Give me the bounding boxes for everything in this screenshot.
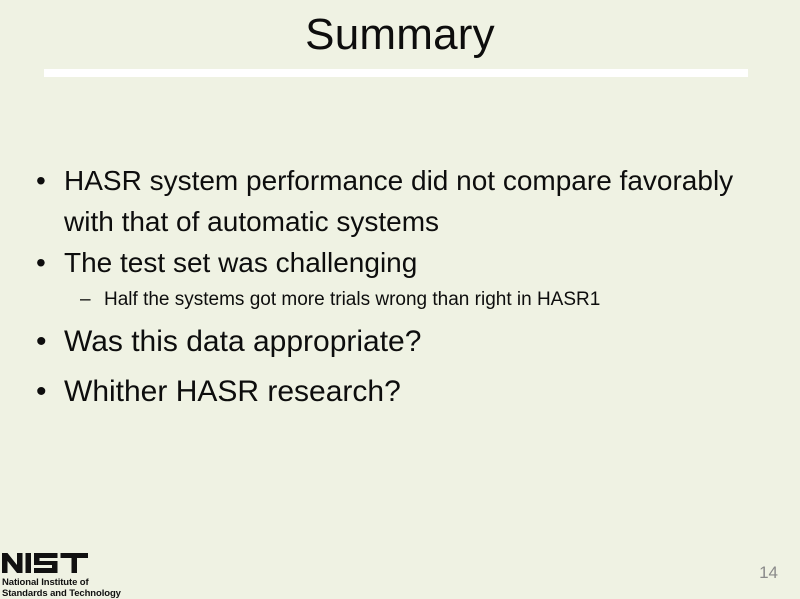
bullet-text: Was this data appropriate?	[64, 317, 764, 367]
sub-bullet-item: – Half the systems got more trials wrong…	[36, 283, 766, 317]
nist-tagline-line-1: National Institute of	[2, 577, 122, 588]
slide-canvas: Summary • HASR system performance did no…	[0, 0, 800, 599]
bullet-text: HASR system performance did not compare …	[64, 160, 764, 242]
sub-bullet-text: Half the systems got more trials wrong t…	[104, 283, 766, 317]
bullet-marker-icon: •	[36, 160, 64, 201]
page-number: 14	[759, 563, 778, 583]
bullet-marker-icon: •	[36, 317, 64, 367]
dash-marker-icon: –	[80, 283, 104, 317]
nist-tagline-line-2: Standards and Technology	[2, 588, 122, 599]
bullet-item: • Was this data appropriate?	[36, 317, 766, 367]
bullet-marker-icon: •	[36, 367, 64, 417]
nist-logo: National Institute of Standards and Tech…	[2, 550, 122, 599]
bullet-text: Whither HASR research?	[64, 367, 764, 417]
page-title: Summary	[0, 8, 800, 62]
title-divider	[44, 69, 748, 77]
bullet-item: • The test set was challenging	[36, 242, 766, 283]
bullet-item: • Whither HASR research?	[36, 367, 766, 417]
nist-wordmark-icon	[2, 550, 88, 576]
bullet-item: • HASR system performance did not compar…	[36, 160, 766, 242]
bullet-text: The test set was challenging	[64, 242, 764, 283]
slide-body: • HASR system performance did not compar…	[36, 160, 766, 417]
bullet-marker-icon: •	[36, 242, 64, 283]
nist-tagline: National Institute of Standards and Tech…	[2, 577, 122, 599]
